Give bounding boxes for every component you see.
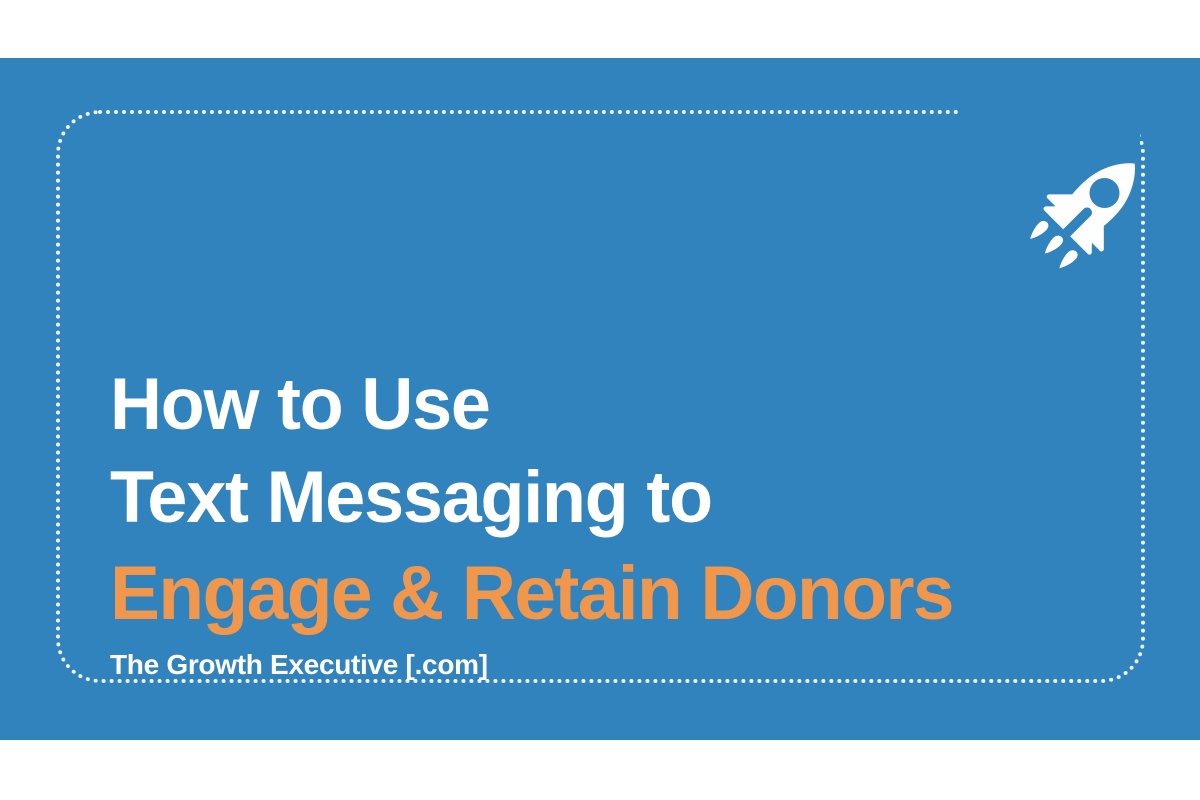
- headline-block: How to Use Text Messaging to Engage & Re…: [110, 358, 1130, 682]
- rocket-icon: [1022, 158, 1146, 284]
- headline-line-3-accent: Engage & Retain Donors: [110, 546, 1115, 642]
- slide-canvas: How to Use Text Messaging to Engage & Re…: [0, 0, 1200, 800]
- subtitle-brand: The Growth Executive [.com]: [110, 648, 1130, 682]
- headline-line-2: Text Messaging to: [110, 451, 1115, 544]
- blue-banner: How to Use Text Messaging to Engage & Re…: [0, 58, 1200, 740]
- headline-line-1: How to Use: [110, 358, 1115, 451]
